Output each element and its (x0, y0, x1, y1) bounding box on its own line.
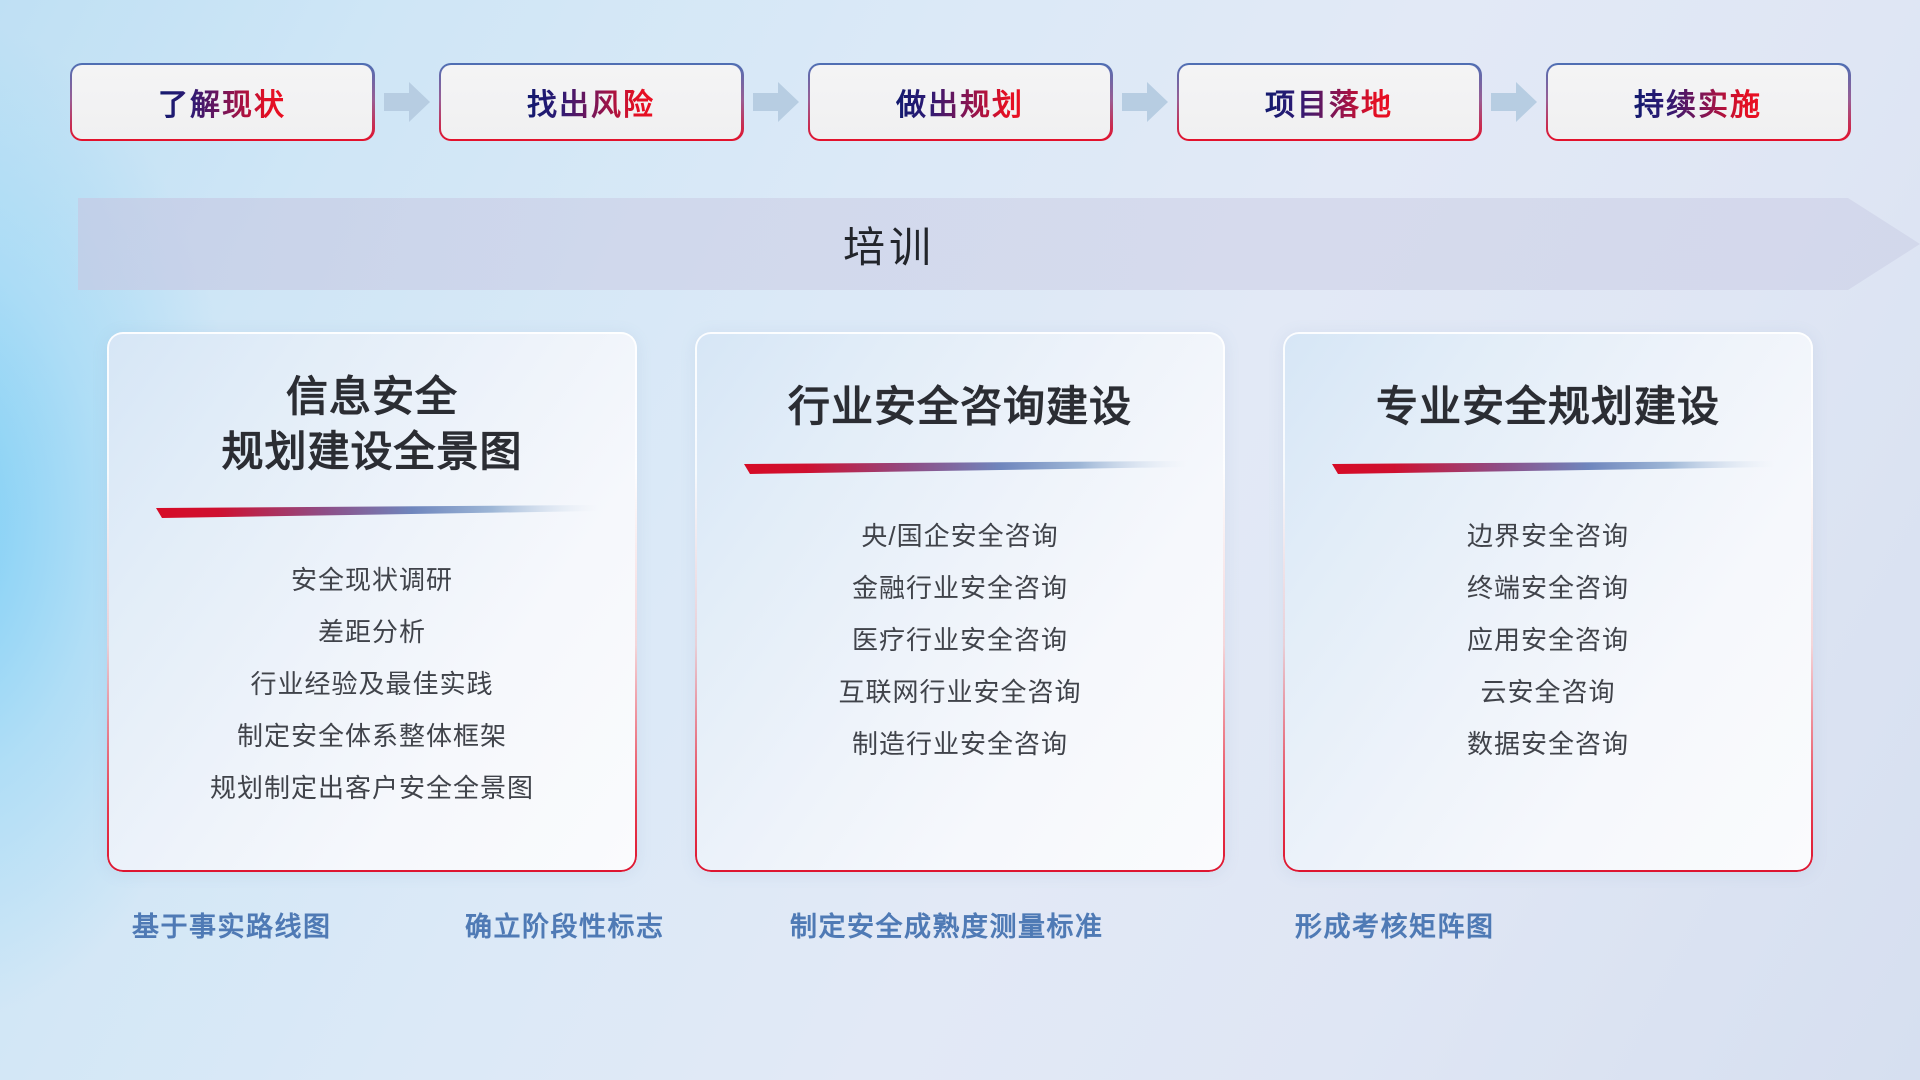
list-item[interactable]: 规划制定出客户安全全景图 (210, 763, 534, 813)
card-divider (734, 461, 1186, 477)
cards-row: 信息安全规划建设全景图安全现状调研差距分析行业经验及最佳实践制定安全体系整体框架… (0, 332, 1920, 872)
service-card-2[interactable]: 行业安全咨询建设央/国企安全咨询金融行业安全咨询医疗行业安全咨询互联网行业安全咨… (695, 332, 1225, 872)
step-pill-label: 找出风险 (527, 80, 655, 124)
list-item[interactable]: 制造行业安全咨询 (852, 719, 1068, 769)
card-title-line: 信息安全 (221, 370, 522, 425)
list-item[interactable]: 互联网行业安全咨询 (838, 667, 1081, 717)
step-pill-2[interactable]: 找出风险 (439, 63, 744, 141)
footer-label-3: 制定安全成熟度测量标准 (790, 905, 1104, 944)
arrow-right-icon (1482, 63, 1546, 141)
card-body: 专业安全规划建设边界安全咨询终端安全咨询应用安全咨询云安全咨询数据安全咨询 (1283, 332, 1813, 872)
step-pill-body: 了解现状 (72, 65, 372, 138)
list-item[interactable]: 医疗行业安全咨询 (852, 615, 1068, 665)
step-pill-1[interactable]: 了解现状 (70, 63, 375, 141)
step-pill-5[interactable]: 持续实施 (1546, 63, 1851, 141)
card-body: 行业安全咨询建设央/国企安全咨询金融行业安全咨询医疗行业安全咨询互联网行业安全咨… (695, 332, 1225, 872)
step-pill-label: 项目落地 (1265, 80, 1393, 124)
list-item[interactable]: 金融行业安全咨询 (852, 563, 1068, 613)
list-item[interactable]: 边界安全咨询 (1467, 511, 1629, 561)
service-card-1[interactable]: 信息安全规划建设全景图安全现状调研差距分析行业经验及最佳实践制定安全体系整体框架… (107, 332, 637, 872)
footer-label-4: 形成考核矩阵图 (1295, 905, 1495, 944)
card-divider (146, 505, 598, 521)
arrow-right-icon (744, 63, 808, 141)
training-banner: 培训 (78, 198, 1920, 290)
step-pill-label: 了解现状 (158, 80, 286, 124)
list-item[interactable]: 行业经验及最佳实践 (250, 659, 493, 709)
step-pill-body: 做出规划 (810, 65, 1110, 138)
step-pill-body: 项目落地 (1179, 65, 1479, 138)
card-divider (1322, 461, 1774, 477)
list-item[interactable]: 云安全咨询 (1480, 667, 1615, 717)
step-pill-3[interactable]: 做出规划 (808, 63, 1113, 141)
footer-label-2: 确立阶段性标志 (465, 905, 665, 944)
arrow-right-icon (375, 63, 439, 141)
card-title: 专业安全规划建设 (1376, 380, 1720, 435)
list-item[interactable]: 央/国企安全咨询 (861, 511, 1058, 561)
list-item[interactable]: 安全现状调研 (291, 555, 453, 605)
card-title: 信息安全规划建设全景图 (221, 370, 522, 479)
list-item[interactable]: 差距分析 (318, 607, 426, 657)
card-item-list: 央/国企安全咨询金融行业安全咨询医疗行业安全咨询互联网行业安全咨询制造行业安全咨… (695, 511, 1225, 769)
process-steps: 了解现状找出风险做出规划项目落地持续实施 (0, 62, 1920, 142)
step-pill-label: 持续实施 (1634, 80, 1762, 124)
card-title-line: 行业安全咨询建设 (788, 380, 1132, 435)
card-body: 信息安全规划建设全景图安全现状调研差距分析行业经验及最佳实践制定安全体系整体框架… (107, 332, 637, 872)
list-item[interactable]: 制定安全体系整体框架 (237, 711, 507, 761)
step-pill-body: 持续实施 (1548, 65, 1848, 138)
step-pill-body: 找出风险 (441, 65, 741, 138)
list-item[interactable]: 数据安全咨询 (1467, 719, 1629, 769)
footer-labels: 基于事实路线图确立阶段性标志制定安全成熟度测量标准形成考核矩阵图 (0, 905, 1920, 961)
footer-label-1: 基于事实路线图 (132, 905, 332, 944)
card-title-line: 专业安全规划建设 (1376, 380, 1720, 435)
card-item-list: 安全现状调研差距分析行业经验及最佳实践制定安全体系整体框架规划制定出客户安全全景… (107, 555, 637, 813)
arrow-right-icon (1113, 63, 1177, 141)
slide-canvas: 了解现状找出风险做出规划项目落地持续实施 培训 信息安全规划建设全景图安全现状调… (0, 0, 1920, 1080)
step-pill-label: 做出规划 (896, 80, 1024, 124)
banner-title: 培训 (78, 198, 1920, 290)
service-card-3[interactable]: 专业安全规划建设边界安全咨询终端安全咨询应用安全咨询云安全咨询数据安全咨询 (1283, 332, 1813, 872)
card-item-list: 边界安全咨询终端安全咨询应用安全咨询云安全咨询数据安全咨询 (1283, 511, 1813, 769)
step-pill-4[interactable]: 项目落地 (1177, 63, 1482, 141)
list-item[interactable]: 终端安全咨询 (1467, 563, 1629, 613)
card-title: 行业安全咨询建设 (788, 380, 1132, 435)
list-item[interactable]: 应用安全咨询 (1467, 615, 1629, 665)
card-title-line: 规划建设全景图 (221, 425, 522, 480)
